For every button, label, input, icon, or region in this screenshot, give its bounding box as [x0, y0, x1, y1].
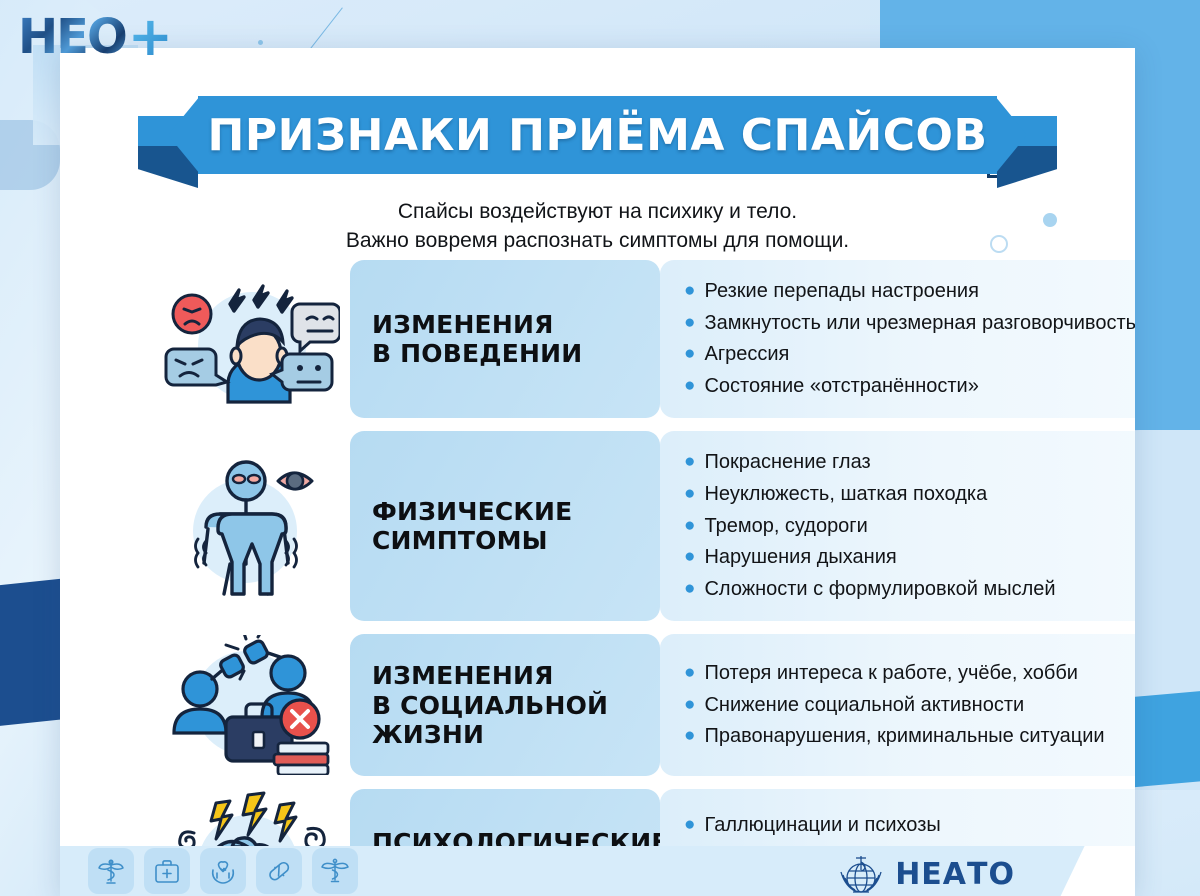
- brand-logo-plus: +: [128, 10, 171, 64]
- bullet-dot-icon: ●: [684, 512, 695, 541]
- trembling-figure-red-eye-icon: [150, 455, 350, 597]
- list-item-text: Правонарушения, криминальные ситуации: [704, 722, 1104, 752]
- section-row: ИЗМЕНЕНИЯ В ПОВЕДЕНИИ ●Резкие перепады н…: [150, 260, 1135, 418]
- brand-logo-text: HEO: [18, 13, 126, 61]
- list-item-text: Сложности с формулировкой мыслей: [704, 575, 1055, 605]
- section-title-line: ЖИЗНИ: [372, 720, 608, 750]
- section-title-card: ФИЗИЧЕСКИЕ СИМПТОМЫ: [350, 431, 660, 621]
- section-bullets: ●Резкие перепады настроения ●Замкнутость…: [660, 260, 1135, 418]
- list-item: ●Тремор, судороги: [684, 511, 1135, 543]
- list-item-text: Агрессия: [704, 340, 789, 370]
- section-title-line: ФИЗИЧЕСКИЕ: [372, 497, 572, 527]
- bullet-dot-icon: ●: [684, 659, 695, 688]
- section-title-card: ИЗМЕНЕНИЯ В ПОВЕДЕНИИ: [350, 260, 660, 418]
- bullet-dot-icon: ●: [684, 277, 695, 306]
- list-item: ●Потеря интереса к работе, учёбе, хобби: [684, 658, 1135, 690]
- footer-corner-accent: [1015, 846, 1135, 896]
- list-item: ●Снижение социальной активности: [684, 690, 1135, 722]
- list-item-text: Состояние «отстранённости»: [704, 372, 978, 402]
- list-item: ●Галлюцинации и психозы: [684, 810, 1135, 842]
- angry-person-emotions-icon: [150, 274, 350, 404]
- bullet-dot-icon: ●: [684, 372, 695, 401]
- broken-social-link-briefcase-icon: [150, 635, 350, 775]
- section-bullets: ●Потеря интереса к работе, учёбе, хобби …: [660, 634, 1135, 776]
- bullet-dot-icon: ●: [684, 543, 695, 572]
- list-item: ●Правонарушения, криминальные ситуации: [684, 721, 1135, 753]
- bullet-dot-icon: ●: [684, 722, 695, 751]
- list-item-text: Неуклюжесть, шаткая походка: [704, 480, 987, 510]
- footer-logo-text: НЕАТО: [895, 857, 1015, 892]
- bullet-dot-icon: ●: [684, 309, 695, 338]
- list-item: ●Нарушения дыхания: [684, 542, 1135, 574]
- section-row: ИЗМЕНЕНИЯ В СОЦИАЛЬНОЙ ЖИЗНИ ●Потеря инт…: [150, 634, 1135, 776]
- infographic-poster: HEO + ПРИЗНАКИ ПРИЁМА СПАЙСОВ Спайсы воз…: [0, 0, 1200, 896]
- brand-logo: HEO +: [18, 10, 171, 64]
- caduceus-wings-icon: [312, 848, 358, 894]
- decor-dot-tiny: [258, 40, 263, 45]
- list-item-text: Тремор, судороги: [704, 512, 867, 542]
- bullet-dot-icon: ●: [684, 340, 695, 369]
- list-item: ●Агрессия: [684, 339, 1135, 371]
- section-title-card: ИЗМЕНЕНИЯ В СОЦИАЛЬНОЙ ЖИЗНИ: [350, 634, 660, 776]
- list-item-text: Покраснение глаз: [704, 448, 870, 478]
- who-emblem-icon: [835, 848, 887, 896]
- list-item: ●Замкнутость или чрезмерная разговорчиво…: [684, 308, 1135, 340]
- footer-bar: НЕАТО: [60, 846, 1135, 896]
- subtitle-line-1: Спайсы воздействуют на психику и тело.: [60, 198, 1135, 227]
- list-item: ●Резкие перепады настроения: [684, 276, 1135, 308]
- heart-in-hands-icon: [200, 848, 246, 894]
- bullet-dot-icon: ●: [684, 811, 695, 840]
- bullet-dot-icon: ●: [684, 575, 695, 604]
- section-title-line: ИЗМЕНЕНИЯ: [372, 661, 608, 691]
- list-item: ●Покраснение глаз: [684, 447, 1135, 479]
- list-item: ●Неуклюжесть, шаткая походка: [684, 479, 1135, 511]
- section-title-line: В СОЦИАЛЬНОЙ: [372, 691, 608, 721]
- page-title: ПРИЗНАКИ ПРИЁМА СПАЙСОВ: [208, 110, 988, 161]
- list-item-text: Потеря интереса к работе, учёбе, хобби: [704, 659, 1077, 689]
- bullet-dot-icon: ●: [684, 480, 695, 509]
- list-item-text: Резкие перепады настроения: [704, 277, 978, 307]
- footer-logo: НЕАТО: [835, 848, 1015, 896]
- first-aid-kit-icon: [144, 848, 190, 894]
- section-bullets: ●Покраснение глаз ●Неуклюжесть, шаткая п…: [660, 431, 1135, 621]
- list-item-text: Нарушения дыхания: [704, 543, 896, 573]
- caduceus-icon: [88, 848, 134, 894]
- subtitle-line-2: Важно вовремя распознать симптомы для по…: [60, 227, 1135, 256]
- section-title-line: СИМПТОМЫ: [372, 526, 572, 556]
- pill-capsule-icon: [256, 848, 302, 894]
- footer-icon-strip: [60, 848, 358, 894]
- list-item: ●Сложности с формулировкой мыслей: [684, 574, 1135, 606]
- bullet-dot-icon: ●: [684, 448, 695, 477]
- ribbon-band: ПРИЗНАКИ ПРИЁМА СПАЙСОВ: [198, 96, 997, 174]
- title-ribbon: ПРИЗНАКИ ПРИЁМА СПАЙСОВ: [60, 68, 1135, 168]
- poster-card: ПРИЗНАКИ ПРИЁМА СПАЙСОВ Спайсы воздейств…: [60, 48, 1135, 896]
- list-item: ●Состояние «отстранённости»: [684, 371, 1135, 403]
- sections-list: ИЗМЕНЕНИЯ В ПОВЕДЕНИИ ●Резкие перепады н…: [150, 260, 1135, 896]
- list-item-text: Галлюцинации и психозы: [704, 811, 940, 841]
- section-title-line: ИЗМЕНЕНИЯ: [372, 310, 582, 340]
- subtitle: Спайсы воздействуют на психику и тело. В…: [60, 198, 1135, 256]
- bullet-dot-icon: ●: [684, 691, 695, 720]
- section-row: ФИЗИЧЕСКИЕ СИМПТОМЫ ●Покраснение глаз ●Н…: [150, 431, 1135, 621]
- list-item-text: Замкнутость или чрезмерная разговорчивос…: [704, 309, 1135, 339]
- section-title-line: В ПОВЕДЕНИИ: [372, 339, 582, 369]
- list-item-text: Снижение социальной активности: [704, 691, 1024, 721]
